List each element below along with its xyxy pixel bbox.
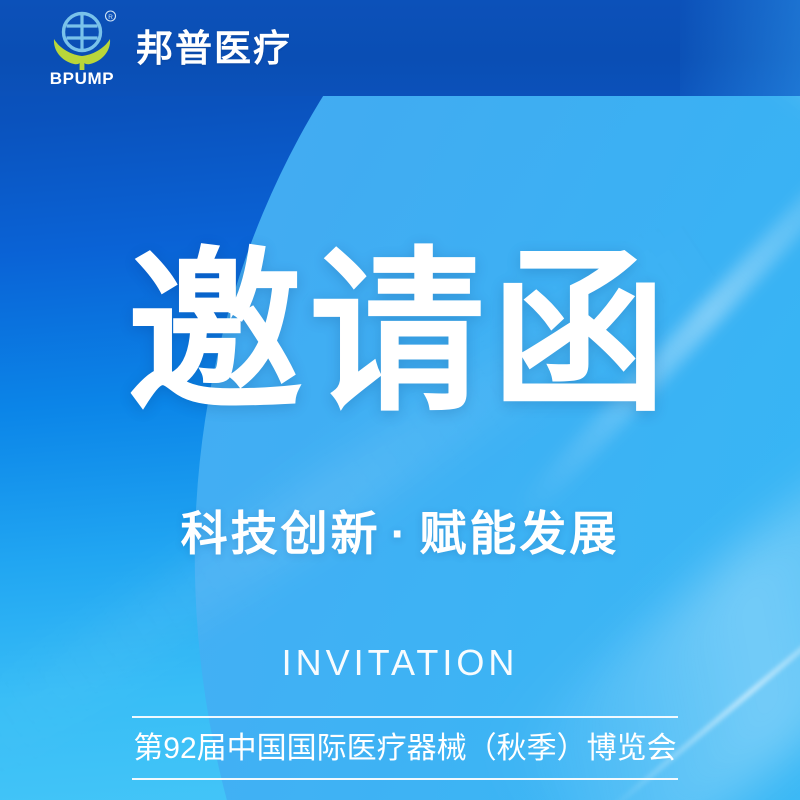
brand-name-cn: 邦普医疗: [136, 30, 292, 67]
svg-text:R: R: [108, 14, 113, 21]
brand-lockup: R BPUMP 邦普医疗: [44, 8, 292, 88]
invitation-poster: R BPUMP 邦普医疗 邀请函 科技创新·赋能发展 INVITATION 第9…: [0, 0, 800, 800]
footer-event-block: 第92届中国国际医疗器械（秋季）博览会: [132, 716, 678, 780]
logo-wordmark-text: BPUMP: [50, 69, 114, 88]
subtitle-right-phrase: 赋能发展: [419, 507, 619, 560]
logo-svg: R BPUMP: [44, 8, 120, 88]
invitation-english-label: INVITATION: [0, 645, 800, 681]
page-title: 邀请函: [0, 246, 800, 422]
brand-header-band: R BPUMP 邦普医疗: [0, 0, 800, 96]
subtitle-separator-dot: ·: [381, 507, 420, 560]
subtitle: 科技创新·赋能发展: [0, 506, 800, 562]
subtitle-left-phrase: 科技创新: [181, 507, 381, 560]
footer-rule-bottom: [132, 778, 678, 780]
bpump-flower-logo-icon: R BPUMP: [44, 8, 120, 88]
footer-event-name: 第92届中国国际医疗器械（秋季）博览会: [132, 718, 678, 778]
